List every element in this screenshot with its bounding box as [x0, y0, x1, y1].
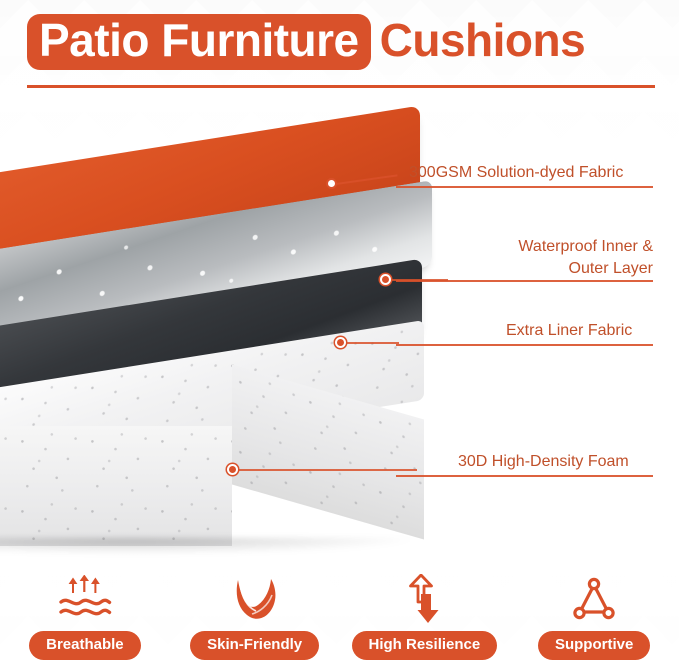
feature-label-skin-friendly: Skin-Friendly: [190, 631, 319, 660]
callout-rule-foam: [396, 475, 653, 477]
molecule-triangle-icon: [567, 573, 621, 627]
callout-dot-liner: [335, 337, 346, 348]
feature-supportive[interactable]: Supportive: [509, 556, 679, 660]
feature-badge-row: Breathable Skin-Friendly High Resilience: [0, 556, 679, 660]
airflow-waves-icon: [57, 573, 113, 627]
callout-label-liner: Extra Liner Fabric: [506, 320, 632, 342]
callout-label-waterproof-line2: Outer Layer: [569, 260, 653, 277]
callout-leader-line-foam: [237, 469, 417, 471]
feather-icon: [228, 573, 282, 627]
callout-rule-fabric: [396, 186, 653, 188]
callout-leader-line-liner: [345, 342, 399, 344]
callout-label-foam: 30D High-Density Foam: [458, 451, 629, 473]
layer-foam-front-face: [0, 426, 232, 546]
callout-rule-waterproof: [396, 280, 653, 282]
feature-breathable[interactable]: Breathable: [0, 556, 170, 660]
callout-rule-liner: [396, 344, 653, 346]
callout-dot-fabric: [326, 178, 337, 189]
title-underline-rule: [27, 85, 655, 88]
foam-speckle-texture: [0, 426, 232, 546]
foam-drop-shadow: [0, 538, 414, 554]
feature-label-supportive: Supportive: [538, 631, 650, 660]
callout-dot-foam: [227, 464, 238, 475]
callout-label-waterproof-line1: Waterproof Inner &: [518, 238, 653, 255]
page-title: Patio Furniture Cushions: [27, 14, 585, 70]
callout-label-fabric: 300GSM Solution-dyed Fabric: [409, 162, 623, 184]
title-highlight-badge: Patio Furniture: [27, 14, 371, 70]
feature-high-resilience[interactable]: High Resilience: [340, 556, 510, 660]
feature-label-high-resilience: High Resilience: [352, 631, 498, 660]
up-down-arrows-icon: [401, 573, 447, 627]
feature-skin-friendly[interactable]: Skin-Friendly: [170, 556, 340, 660]
exploded-cushion-diagram: 300GSM Solution-dyed Fabric Waterproof I…: [0, 96, 679, 546]
feature-label-breathable: Breathable: [29, 631, 141, 660]
page-header: Patio Furniture Cushions: [0, 14, 679, 90]
title-secondary-text: Cushions: [371, 17, 586, 67]
callout-label-waterproof: Waterproof Inner &Outer Layer: [430, 236, 653, 279]
callout-dot-waterproof: [380, 274, 391, 285]
